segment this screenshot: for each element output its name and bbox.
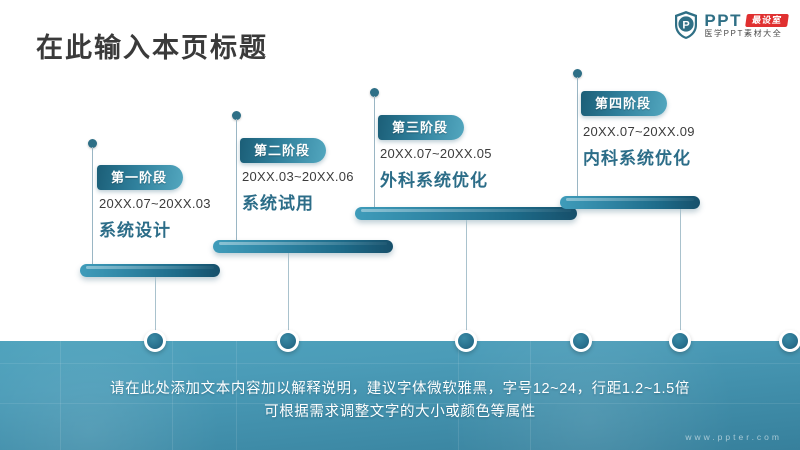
step-3-plank — [355, 207, 577, 220]
step-4-plank — [560, 196, 700, 209]
logo-subtitle: 医学PPT素材大全 — [704, 30, 788, 38]
band-texture-line — [0, 363, 800, 364]
page-title: 在此输入本页标题 — [36, 26, 268, 65]
step-1-label: 系统设计 — [99, 216, 171, 241]
logo-badge: 最设室 — [745, 14, 789, 27]
step-2-daterange: 20XX.03~20XX.06 — [242, 169, 354, 184]
svg-text:P: P — [683, 19, 690, 31]
step-3-daterange: 20XX.07~20XX.05 — [380, 146, 492, 161]
step-4-stem — [577, 77, 578, 197]
step-2-stem — [236, 119, 237, 243]
shield-icon: P — [673, 10, 699, 40]
step-2-label: 系统试用 — [242, 189, 314, 214]
step-2-dropline — [288, 253, 289, 339]
step-2-pill: 第二阶段 — [240, 138, 326, 163]
step-1-pill: 第一阶段 — [97, 165, 183, 190]
step-4-pill: 第四阶段 — [581, 91, 667, 116]
step-4-daterange: 20XX.07~20XX.09 — [583, 124, 695, 139]
step-3-pill: 第三阶段 — [378, 115, 464, 140]
step-4-label: 内科系统优化 — [583, 144, 691, 169]
brand-logo: P PPT 最设室 医学PPT素材大全 — [673, 8, 788, 42]
timeline-dot-1[interactable] — [144, 330, 166, 352]
step-2-plank — [213, 240, 393, 253]
watermark: www.ppter.com — [685, 432, 782, 442]
step-1-daterange: 20XX.07~20XX.03 — [99, 196, 211, 211]
body-text-line-2: 可根据需求调整文字的大小或颜色等属性 — [0, 401, 800, 424]
timeline-dot-4[interactable] — [570, 330, 592, 352]
logo-wordmark: PPT — [704, 12, 742, 29]
footer-band: 请在此处添加文本内容加以解释说明，建议字体微软雅黑，字号12~24，行距1.2~… — [0, 341, 800, 450]
timeline-dot-3[interactable] — [455, 330, 477, 352]
step-3-label: 外科系统优化 — [380, 166, 488, 191]
timeline-dot-6[interactable] — [779, 330, 800, 352]
step-4-dropline — [680, 209, 681, 339]
step-3-dropline — [466, 220, 467, 339]
step-3-stem — [374, 96, 375, 212]
slide-canvas: 在此输入本页标题 P PPT 最设室 医学PPT素材大全 第一阶段 20XX.0… — [0, 0, 800, 450]
step-1-plank — [80, 264, 220, 277]
timeline-dot-5[interactable] — [669, 330, 691, 352]
step-1-stem — [92, 147, 93, 267]
body-text: 请在此处添加文本内容加以解释说明，建议字体微软雅黑，字号12~24，行距1.2~… — [0, 378, 800, 424]
timeline-dot-2[interactable] — [277, 330, 299, 352]
body-text-line-1: 请在此处添加文本内容加以解释说明，建议字体微软雅黑，字号12~24，行距1.2~… — [0, 378, 800, 401]
